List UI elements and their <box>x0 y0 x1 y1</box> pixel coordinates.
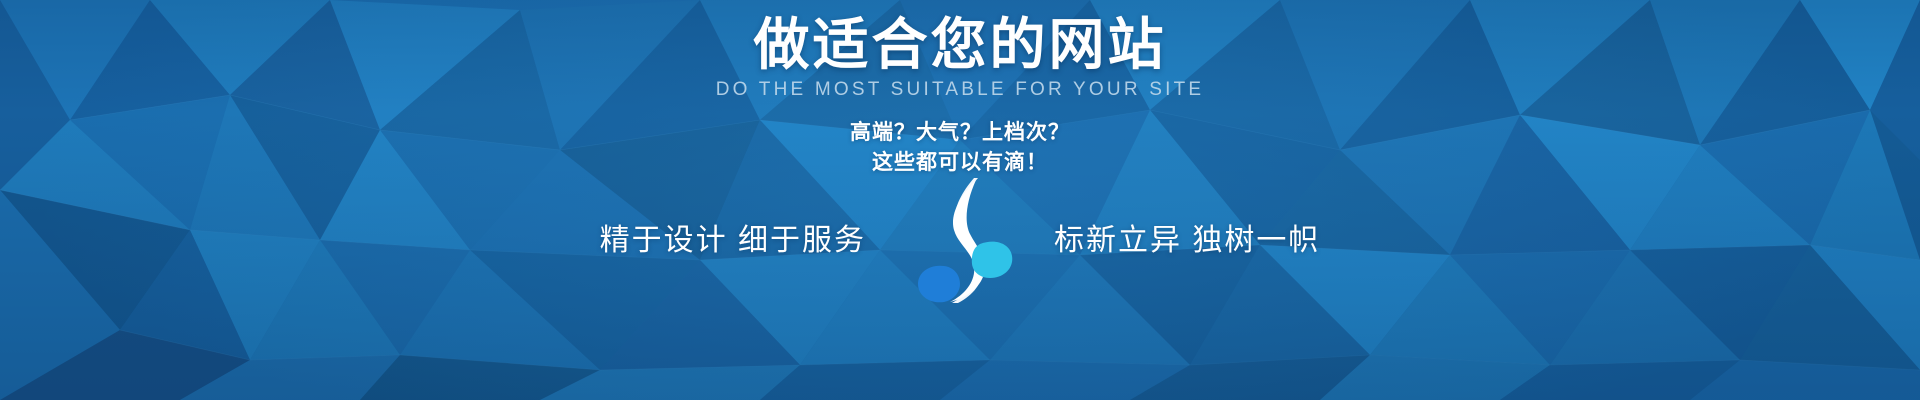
banner-content: 做适合您的网站 DO THE MOST SUITABLE FOR YOUR SI… <box>0 0 1920 400</box>
hero-banner: 做适合您的网站 DO THE MOST SUITABLE FOR YOUR SI… <box>0 0 1920 400</box>
tagline-left: 精于设计 细于服务 <box>536 221 900 261</box>
leaf-swoosh-logo <box>900 176 1020 306</box>
tagline-right: 标新立异 独树一帜 <box>1020 221 1384 261</box>
slogan-line-2: 这些都可以有滴！ <box>850 148 1070 178</box>
leaf-swoosh-logo-icon <box>900 176 1020 306</box>
banner-slogan: 高端？大气？上档次？ 这些都可以有滴！ <box>850 118 1070 178</box>
banner-subtitle: DO THE MOST SUITABLE FOR YOUR SITE <box>716 78 1205 102</box>
slogan-line-1: 高端？大气？上档次？ <box>850 118 1070 148</box>
banner-title: 做适合您的网站 <box>754 14 1167 76</box>
banner-bottom-row: 精于设计 细于服务 标新立异 独树一帜 <box>0 176 1920 306</box>
